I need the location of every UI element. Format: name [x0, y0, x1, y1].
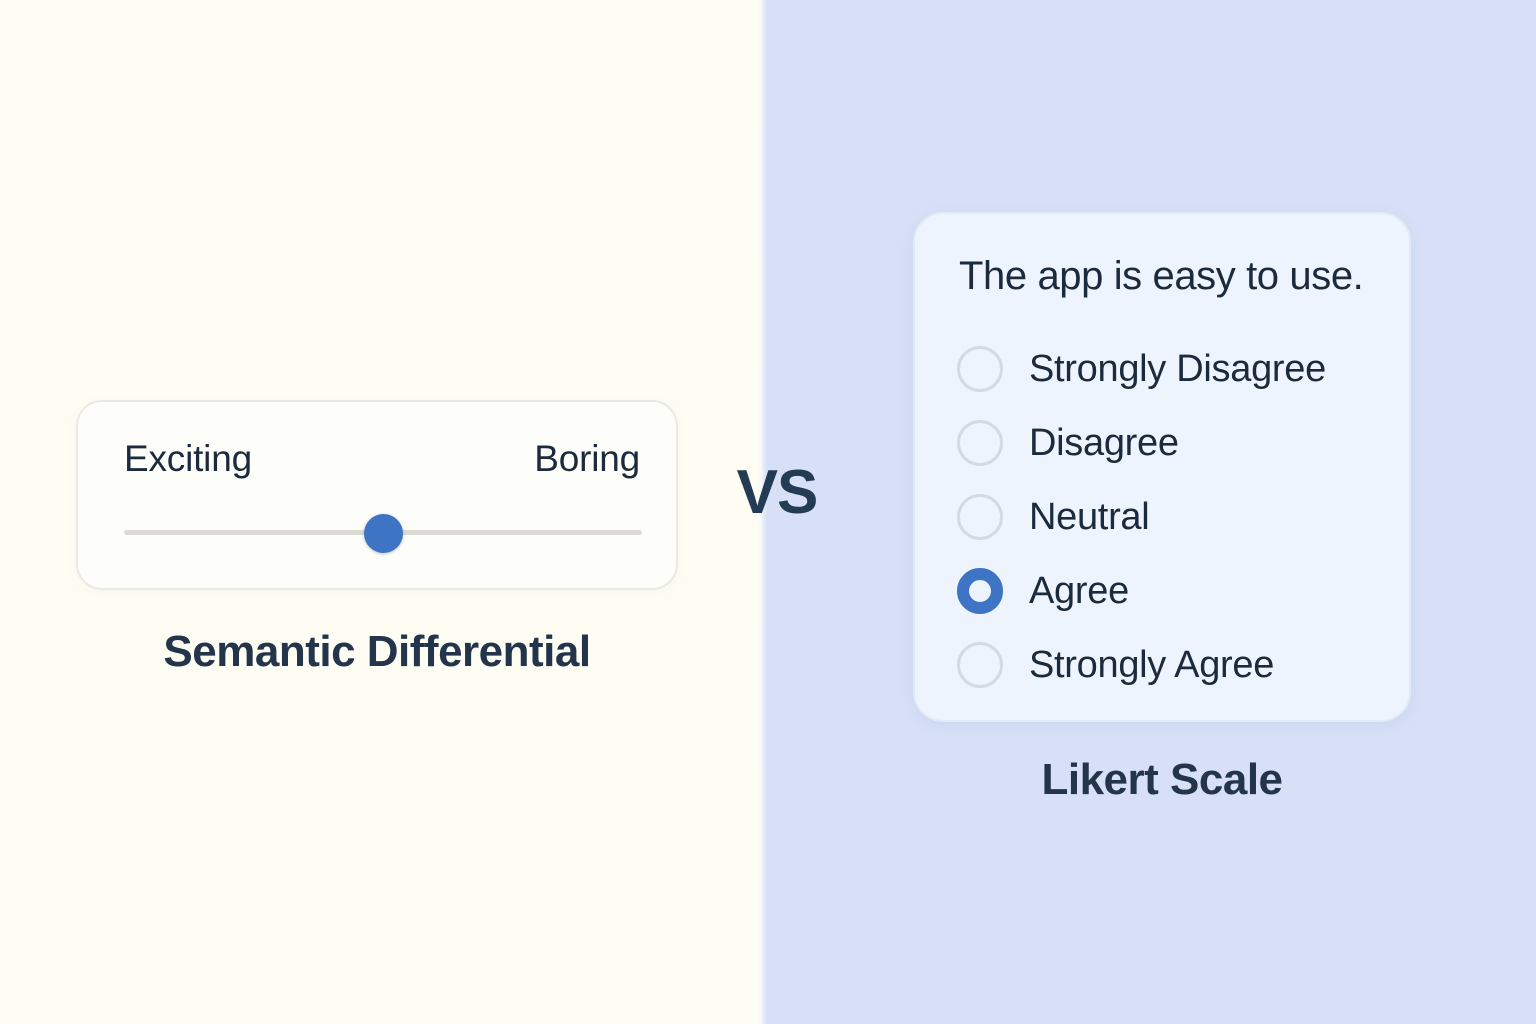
likert-option-label: Disagree: [1029, 424, 1179, 462]
pole-label-right: Boring: [534, 440, 640, 477]
comparison-graphic: Exciting Boring Semantic Differential VS…: [0, 0, 1536, 1024]
radio-icon[interactable]: [957, 346, 1003, 392]
likert-question: The app is easy to use.: [959, 256, 1363, 296]
likert-option-label: Strongly Agree: [1029, 646, 1274, 684]
semantic-differential-card: Exciting Boring: [76, 400, 678, 590]
semantic-differential-caption: Semantic Differential: [76, 630, 678, 674]
pole-label-left: Exciting: [124, 440, 252, 477]
radio-icon[interactable]: [957, 642, 1003, 688]
likert-option-disagree[interactable]: Disagree: [957, 406, 1389, 480]
radio-icon-selected[interactable]: [957, 568, 1003, 614]
likert-option-label: Neutral: [1029, 498, 1149, 536]
slider-thumb[interactable]: [364, 514, 403, 553]
semantic-differential-poles: Exciting Boring: [124, 440, 640, 477]
likert-option-strongly-agree[interactable]: Strongly Agree: [957, 628, 1389, 702]
radio-icon[interactable]: [957, 494, 1003, 540]
versus-label: VS: [722, 462, 832, 524]
likert-option-label: Agree: [1029, 572, 1129, 610]
semantic-differential-slider[interactable]: [124, 530, 642, 536]
likert-option-label: Strongly Disagree: [1029, 350, 1326, 388]
likert-scale-card: The app is easy to use. Strongly Disagre…: [913, 212, 1411, 722]
likert-option-list: Strongly Disagree Disagree Neutral Agree…: [957, 332, 1389, 702]
likert-option-agree[interactable]: Agree: [957, 554, 1389, 628]
likert-scale-caption: Likert Scale: [913, 758, 1411, 802]
likert-option-neutral[interactable]: Neutral: [957, 480, 1389, 554]
likert-option-strongly-disagree[interactable]: Strongly Disagree: [957, 332, 1389, 406]
radio-icon[interactable]: [957, 420, 1003, 466]
